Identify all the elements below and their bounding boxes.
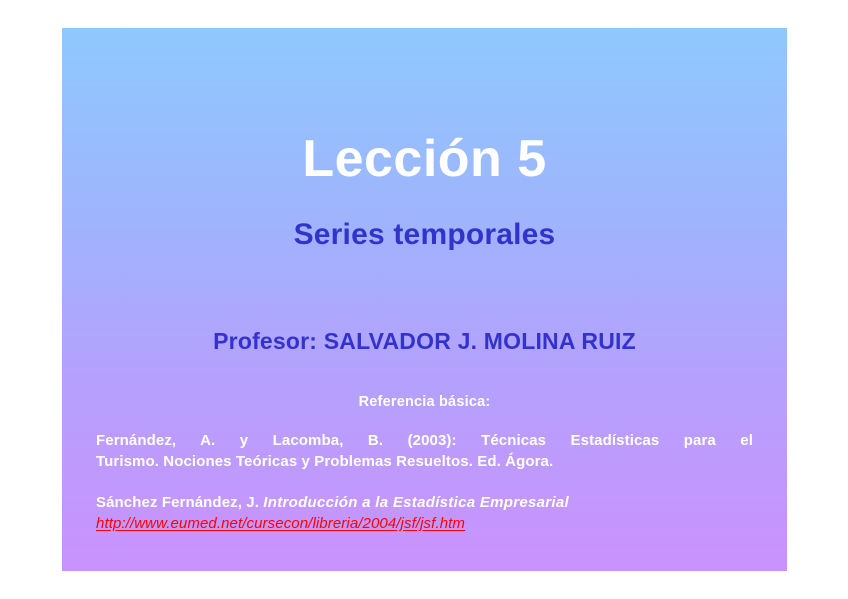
reference-entry-1-line-1: Fernández, A. y Lacomba, B. (2003): Técn… (96, 430, 753, 451)
reference-heading: Referencia básica: (62, 394, 787, 410)
reference-entry-2-work-title: Introducción a la Estadística Empresaria… (263, 494, 569, 511)
professor-line: Profesor: SALVADOR J. MOLINA RUIZ (62, 328, 787, 355)
reference-entry-2-author: Sánchez Fernández, J. (96, 494, 259, 511)
reference-entry-2-url-link[interactable]: http://www.eumed.net/cursecon/libreria/2… (96, 514, 753, 534)
reference-list: Fernández, A. y Lacomba, B. (2003): Técn… (96, 430, 753, 534)
slide-title: Lección 5 (62, 132, 787, 187)
page-root: Lección 5 Series temporales Profesor: SA… (0, 0, 848, 599)
reference-entry-1: Fernández, A. y Lacomba, B. (2003): Técn… (96, 430, 753, 473)
presentation-slide: Lección 5 Series temporales Profesor: SA… (62, 28, 787, 571)
slide-subtitle: Series temporales (62, 218, 787, 251)
reference-entry-2: Sánchez Fernández, J. Introducción a la … (96, 493, 753, 535)
reference-entry-1-line-2: Turismo. Nociones Teóricas y Problemas R… (96, 451, 753, 472)
